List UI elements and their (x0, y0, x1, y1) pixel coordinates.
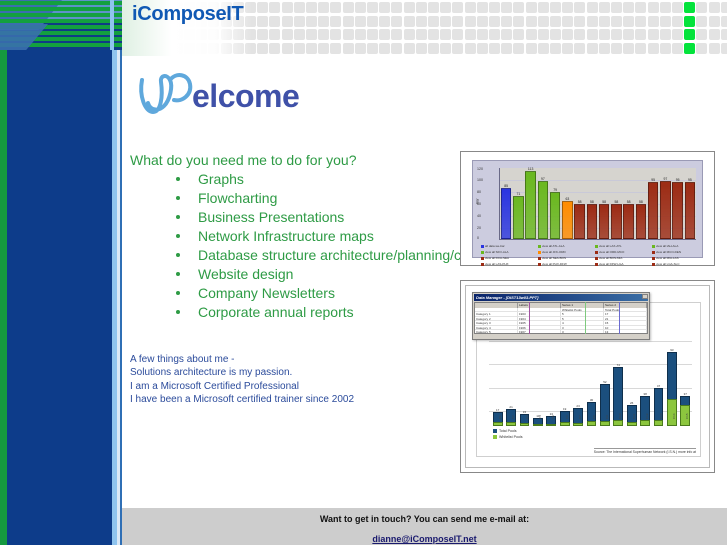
stacked-bar-value-label: 30 (587, 398, 597, 402)
grid-cell[interactable]: 13 (604, 330, 647, 333)
chart-bar (599, 204, 610, 239)
chart-bar (538, 181, 549, 239)
stacked-bar-segment-whitelist (506, 422, 516, 426)
grid-cell[interactable]: 1903 (518, 312, 561, 315)
legend-swatch (481, 263, 484, 266)
chart-x-tick-label: C4 (538, 415, 542, 419)
header-grid-square (538, 2, 549, 13)
grid-cell[interactable]: Category 2 (475, 317, 518, 320)
header-grid-square (709, 29, 720, 40)
site-brand-title: iComposeIT (132, 3, 243, 26)
header-grid-square (318, 2, 329, 13)
header-grid-square (391, 29, 402, 40)
stacked-bar-segment-whitelist (640, 420, 650, 426)
header-grid-square (611, 43, 622, 54)
header-grid-square (623, 43, 634, 54)
header-grid-square (404, 2, 415, 13)
header-grid-square (623, 29, 634, 40)
service-label: Flowcharting (198, 190, 277, 206)
header-grid-square (306, 43, 317, 54)
chart-bar-value-label: 97 (659, 177, 671, 181)
header-grid-square (550, 16, 561, 27)
legend-label: view all DFW-LGA (599, 262, 623, 266)
stacked-bar-segment-total (600, 384, 610, 426)
header-grid-square (489, 16, 500, 27)
header-grid-square (574, 29, 585, 40)
grid-cell[interactable]: 21 (604, 317, 647, 320)
welcome-wordmark: elcome (136, 70, 316, 125)
header-grid-square (526, 43, 537, 54)
header-grid-square (391, 43, 402, 54)
chart-bar (623, 204, 634, 239)
stacked-bar-segment-whitelist (600, 421, 610, 426)
header-grid-square (269, 29, 280, 40)
header-grid-square (282, 2, 293, 13)
chart-bar-value-label: 95 (684, 178, 696, 182)
bullet-icon (176, 291, 180, 295)
grid-cell[interactable]: 1905 (518, 321, 561, 324)
legend-label: view all LAX-ATL (599, 244, 622, 248)
header-grid-square (452, 16, 463, 27)
header-grid-square (269, 43, 280, 54)
stacked-bar-value-label: 26 (627, 401, 637, 405)
header-grid-square (355, 43, 366, 54)
header-grid-square (343, 16, 354, 27)
stacked-bar: 52 (600, 384, 610, 426)
header-grid-square (416, 16, 427, 27)
header-grid-square (562, 43, 573, 54)
header-grid-square (343, 29, 354, 40)
legend-label: view all MIA-LAS (656, 256, 679, 260)
header-grid-square (306, 16, 317, 27)
header-grid-square (282, 43, 293, 54)
header-grid-square (465, 43, 476, 54)
chart-bar (562, 201, 573, 239)
header-grid-square (501, 2, 512, 13)
stacked-bar-segment-whitelist (573, 423, 583, 426)
header-grid-square (648, 16, 659, 27)
header-grid-square (623, 16, 634, 27)
header-grid-square (294, 16, 305, 27)
data-manager-title-text: Data Manager - [DIST13w03.PPT] (476, 295, 538, 300)
bullet-icon (176, 310, 180, 314)
legend-swatch (652, 263, 655, 266)
chart-x-tick-label: C12 (645, 413, 649, 419)
legend-label: view all SEA-BOS (542, 256, 566, 260)
header-grid-square (562, 2, 573, 13)
header-grid-square (330, 2, 341, 13)
header-grid-square (587, 2, 598, 13)
header-grid-square (428, 16, 439, 27)
header-grid-square (513, 16, 524, 27)
grid-cell[interactable]: 5 (561, 317, 604, 320)
grid-cell[interactable]: 3 (561, 326, 604, 329)
header-grid-square (257, 2, 268, 13)
chart-legend-item: all data we-bar (481, 244, 505, 248)
legend-swatch (595, 245, 598, 248)
header-grid-square (587, 43, 598, 54)
main-content: elcome What do you need me to do for you… (122, 56, 727, 508)
data-manager-title-bar: Data Manager - [DIST13w03.PPT] (474, 294, 648, 301)
stacked-bar-value-label: 21 (506, 405, 516, 409)
header-green-square (684, 16, 695, 27)
legend-swatch (652, 251, 655, 254)
header-grid-square (574, 2, 585, 13)
footer-email-link[interactable]: dianne@iComposeIT.net (122, 534, 727, 544)
legend-label: all data we-bar (485, 244, 505, 248)
chart-x-tick-label: C3 (525, 415, 529, 419)
stacked-bar-segment-whitelist (587, 421, 597, 426)
header-grid-square (709, 16, 720, 27)
chart-bar (685, 182, 696, 239)
legend-swatch (538, 251, 541, 254)
header-grid-square (452, 29, 463, 40)
chart-x-tick-label: C15 (685, 413, 689, 419)
legend-swatch (652, 245, 655, 248)
chart-bar (672, 182, 683, 239)
header-grid-square (269, 2, 280, 13)
grid-cell[interactable]: 3 (561, 330, 604, 333)
stacked-bar: 38 (640, 396, 650, 426)
page-root: iComposeIT elcome What do you need me to… (0, 0, 727, 545)
stacked-bar-segment-whitelist (520, 423, 530, 426)
header-grid-square (367, 29, 378, 40)
header-grid-square (696, 43, 707, 54)
legend-label-total: Total Pools (499, 429, 517, 433)
chart-legend-item: view all ATL-ALA (538, 244, 564, 248)
header-grid-square (709, 43, 720, 54)
header-grid-square (452, 2, 463, 13)
legend-swatch (481, 251, 484, 254)
chart-legend-item: view all LAS-PHX (481, 262, 509, 266)
chart-bar-value-label: 95 (647, 178, 659, 182)
header-grid-square (343, 2, 354, 13)
header-grid-square (660, 2, 671, 13)
header-grid-square (404, 43, 415, 54)
chart-bar (587, 204, 598, 239)
grid-divider-magenta (529, 302, 530, 334)
bullet-icon (176, 272, 180, 276)
chart-bar-value-label: 95 (672, 178, 684, 182)
header-grid-square (379, 29, 390, 40)
header-grid-square (343, 43, 354, 54)
header-grid-square (635, 16, 646, 27)
header-grid-square (489, 29, 500, 40)
header-grid-square (599, 29, 610, 40)
legend-label: view all ATL-ALA (542, 244, 564, 248)
chart-bar-value-label: 58 (598, 200, 610, 204)
chart-bar-value-label: 58 (635, 200, 647, 204)
legend-swatch-whitelist (493, 435, 497, 439)
stacked-bar-value-label: 15 (520, 410, 530, 414)
header-grid-square (599, 16, 610, 27)
grid-cell[interactable]: 1906 (518, 326, 561, 329)
header-grid-square (379, 16, 390, 27)
header-grid-square (306, 29, 317, 40)
header-grid-square (318, 16, 329, 27)
chart-bar (525, 171, 536, 239)
legend-label: view all DCA-SEA (485, 256, 509, 260)
header-grid-square (611, 2, 622, 13)
service-label: Corporate annual reports (198, 304, 354, 320)
header-grid-square (574, 43, 585, 54)
header-grid-square (257, 16, 268, 27)
header-grid-square (379, 2, 390, 13)
header-grid-square (550, 43, 561, 54)
service-label: Network Infrastructure maps (198, 228, 374, 244)
chart-legend-item: view all SFO-ALA (481, 250, 509, 254)
chart-legend-item: view all BOS-MIA (595, 256, 622, 260)
page-question: What do you need me to do for you? (130, 152, 356, 168)
stacked-bar-value-label: 37 (680, 392, 690, 396)
grid-cell[interactable]: Category 1 (475, 312, 518, 315)
chart-bar-value-label: 85 (500, 184, 512, 188)
stacked-bar-value-label: 38 (640, 392, 650, 396)
header-grid-square (538, 43, 549, 54)
header-grid-square (282, 16, 293, 27)
grid-cell[interactable]: 4 (561, 321, 604, 324)
powerpoint-screenshot-thumbnail[interactable]: 17C121C215C310C413C519C623C730C852C974C1… (460, 280, 715, 473)
header-grid-square (306, 2, 317, 13)
legend-swatch (538, 245, 541, 248)
header-grid-square (355, 16, 366, 27)
legend-label: view all IAH-ALA (656, 244, 678, 248)
stacked-bar-value-label: 74 (613, 363, 623, 367)
data-manager-grid[interactable]: LabelsSeries 1Series 2Whitelist PoolsTot… (474, 302, 648, 334)
service-label: Website design (198, 266, 293, 282)
header-grid-square (672, 43, 683, 54)
chart-legend-item: view all IAH-ALA (652, 244, 678, 248)
header-grid-square (416, 43, 427, 54)
sidebar-panel (7, 46, 112, 545)
about-line: Solutions architecture is my passion. (130, 366, 354, 379)
header-grid-square (574, 16, 585, 27)
bullet-icon (176, 234, 180, 238)
header-grid-square (587, 29, 598, 40)
legend-label: view all BOS-MIA (599, 256, 622, 260)
stacked-bar-segment-whitelist (560, 422, 570, 426)
service-label: Business Presentations (198, 209, 344, 225)
decorative-corner-graphic (0, 0, 122, 50)
grid-divider-green (585, 302, 586, 334)
legend-label: view all SFO-ALA (485, 250, 509, 254)
grid-cell[interactable]: Category 3 (475, 321, 518, 324)
header-grid-square (465, 2, 476, 13)
grid-cell[interactable]: 5 (561, 312, 604, 315)
grid-cell[interactable]: 17 (604, 312, 647, 315)
bar-chart-thumbnail[interactable]: 120 100 80 60 40 20 0 Bar 85711139779635… (460, 151, 715, 266)
chart-x-tick-label: C9 (605, 415, 609, 419)
chart-gridline (489, 364, 692, 365)
header-grid-square (355, 2, 366, 13)
header-grid-square (428, 29, 439, 40)
legend-swatch (595, 257, 598, 260)
header-grid-square (611, 16, 622, 27)
chart-legend-item: view all SEA-BOS (538, 256, 566, 260)
header-grid-square (660, 43, 671, 54)
header-grid-square (330, 43, 341, 54)
chart-bar-value-label: 58 (610, 200, 622, 204)
header-grid-square (538, 29, 549, 40)
legend-label: view all LAS-PHX (485, 262, 509, 266)
header-grid-square (367, 2, 378, 13)
chart-x-tick-label: C5 (551, 415, 555, 419)
data-manager-window[interactable]: Data Manager - [DIST13w03.PPT] LabelsSer… (472, 292, 650, 340)
header-grid-square (635, 29, 646, 40)
bar-chart-plot-area: 857111397796358585858585895979595 (499, 168, 696, 240)
header-grid-square (648, 43, 659, 54)
grid-subheader-cell (475, 308, 518, 311)
header-grid-square (282, 29, 293, 40)
service-label: Company Newsletters (198, 285, 335, 301)
header-green-square (684, 43, 695, 54)
header-grid-square (599, 43, 610, 54)
chart-gridline (489, 341, 692, 342)
header-grid-square (477, 16, 488, 27)
chart-legend-item: view all LAX-ATL (595, 244, 622, 248)
header-grid-square (440, 43, 451, 54)
grid-subheader-cell (518, 308, 561, 311)
header-grid-square (428, 2, 439, 13)
header-grid-square (635, 2, 646, 13)
header-grid-square (501, 29, 512, 40)
chart-bar (574, 204, 585, 239)
chart-bar-value-label: 97 (537, 177, 549, 181)
about-line: A few things about me - (130, 353, 354, 366)
header-grid-square (562, 29, 573, 40)
header-grid-square (367, 16, 378, 27)
header-grid-square (623, 2, 634, 13)
stacked-bar-value-label: 52 (600, 380, 610, 384)
header-grid-square (367, 43, 378, 54)
grid-cell[interactable]: 1904 (518, 317, 561, 320)
header-grid-square (696, 16, 707, 27)
stacked-bar-segment-whitelist (493, 422, 503, 426)
grid-cell[interactable]: 1907 (518, 330, 561, 333)
header-grid-square (257, 43, 268, 54)
grid-cell[interactable]: Category 4 (475, 326, 518, 329)
legend-swatch (652, 257, 655, 260)
header-grid-square (635, 43, 646, 54)
data-manager-close-icon[interactable] (642, 294, 648, 299)
header-grid-square (526, 29, 537, 40)
chart-legend-item: view all ORD-MCO (595, 250, 624, 254)
header-grid-square (696, 2, 707, 13)
chart-legend-item: view all MCO-DEN (652, 250, 681, 254)
stacked-bar-value-label: 47 (654, 384, 664, 388)
header-grid-square (416, 29, 427, 40)
chart-x-tick-label: C7 (578, 415, 582, 419)
header-grid-square (611, 29, 622, 40)
header-grid-square (672, 16, 683, 27)
header-grid-square (721, 29, 727, 40)
header-grid-square (538, 16, 549, 27)
grid-data-row[interactable]: Category 51907313 (475, 330, 647, 334)
header-grid-square (477, 2, 488, 13)
stacked-bar-segment-whitelist (627, 422, 637, 426)
header-grid-square (428, 43, 439, 54)
bar-chart-legend: all data we-barview all ATL-ALAview all … (481, 244, 696, 268)
legend-label: view all JFK-ORD (542, 250, 566, 254)
header-grid-square (648, 2, 659, 13)
header-grid-square (513, 2, 524, 13)
header-grid-square (526, 2, 537, 13)
header-grid-square (660, 16, 671, 27)
chart-x-tick-label: C11 (632, 414, 636, 419)
grid-divider-blue (619, 302, 620, 334)
chart-bar (550, 192, 561, 239)
chart-bar (501, 188, 512, 239)
header-grid-square (465, 29, 476, 40)
chart-bar-value-label: 58 (586, 200, 598, 204)
header-grid-square (440, 16, 451, 27)
chart-legend-item: view all LGA-SLC (652, 262, 680, 266)
header-grid-square (440, 2, 451, 13)
header-grid-square (465, 16, 476, 27)
chart-bar (660, 181, 671, 239)
stacked-chart-legend: Total Pools Whitelist Pools (493, 428, 523, 440)
grid-subheader-cell: Total Pools (604, 308, 647, 311)
chart-bar-value-label: 63 (561, 197, 573, 201)
chart-x-tick-label: C14 (672, 413, 676, 419)
header-grid-square (709, 2, 720, 13)
chart-x-tick-label: C8 (592, 415, 596, 419)
header-grid-square (257, 29, 268, 40)
header-grid-square (721, 16, 727, 27)
grid-cell[interactable]: 15 (604, 321, 647, 324)
legend-swatch (595, 263, 598, 266)
header-grid-square (721, 43, 727, 54)
stacked-bar-segment-whitelist (546, 424, 556, 426)
footer-contact-prompt: Want to get in touch? You can send me e-… (122, 514, 727, 524)
grid-cell[interactable]: Category 5 (475, 330, 518, 333)
legend-swatch (481, 257, 484, 260)
header-grid-square (696, 29, 707, 40)
header-grid-square (513, 29, 524, 40)
chart-bar (611, 204, 622, 239)
chart-x-tick-label: C10 (618, 413, 622, 419)
header-grid-square (355, 29, 366, 40)
legend-swatch (538, 257, 541, 260)
bullet-icon (176, 253, 180, 257)
header-grid-square (294, 2, 305, 13)
header-grid-square (526, 16, 537, 27)
stacked-bar: 47 (654, 388, 664, 426)
service-label: Graphs (198, 171, 244, 187)
stacked-bar: 30 (587, 402, 597, 426)
header-grid-square (550, 29, 561, 40)
grid-subheader-cell: Whitelist Pools (561, 308, 604, 311)
grid-cell[interactable]: 10 (604, 326, 647, 329)
header-grid-square (489, 2, 500, 13)
header-grid-square (501, 16, 512, 27)
header-grid-square (404, 16, 415, 27)
stacked-bar-segment-whitelist (613, 420, 623, 426)
chart-bar-value-label: 113 (525, 167, 537, 171)
stacked-bar: 37 (680, 396, 690, 426)
about-paragraph: A few things about me -Solutions archite… (130, 353, 354, 407)
legend-swatch (481, 245, 484, 248)
legend-label: view all LGA-SLC (656, 262, 680, 266)
chart-bar (648, 182, 659, 239)
site-header: iComposeIT (122, 0, 727, 56)
stacked-bar-segment-whitelist (654, 420, 664, 426)
header-grid-square (489, 43, 500, 54)
bullet-icon (176, 196, 180, 200)
header-grid-square (391, 16, 402, 27)
header-green-square (684, 2, 695, 13)
header-grid-square (672, 2, 683, 13)
